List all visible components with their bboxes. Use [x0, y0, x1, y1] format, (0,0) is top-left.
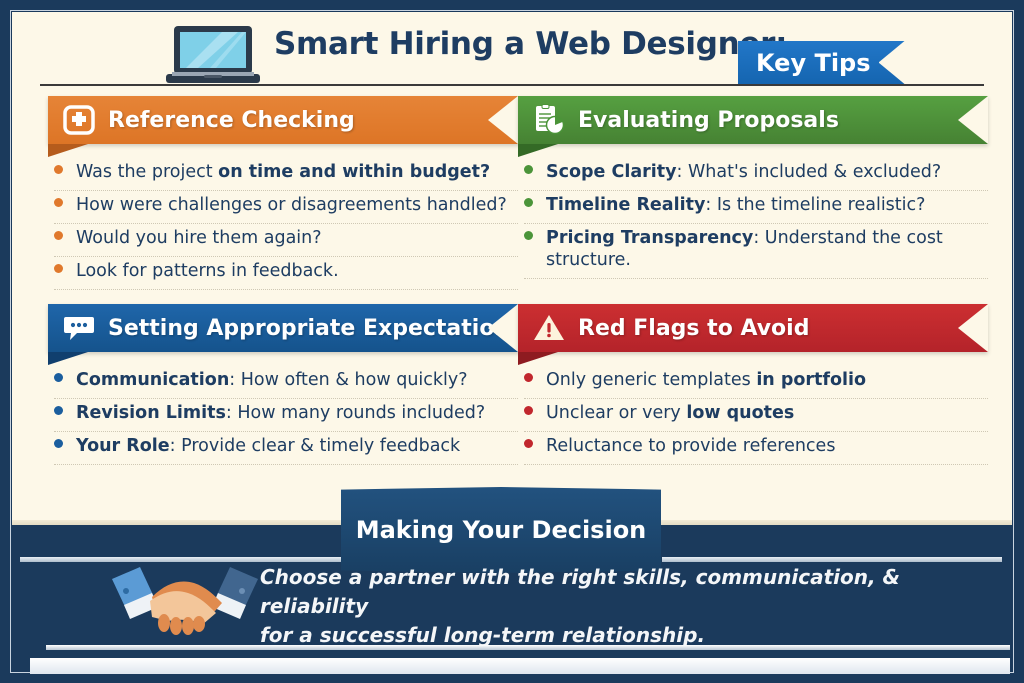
footer-message: Choose a partner with the right skills, …	[260, 563, 960, 650]
bullet-dot	[524, 231, 533, 240]
list-item: Only generic templates in portfolio	[524, 366, 988, 399]
list-item: Revision Limits: How many rounds include…	[54, 399, 518, 432]
section-card-evaluating-proposals: Evaluating Proposals Scope Clarity: What…	[518, 96, 988, 279]
list-item-text: Only generic templates in portfolio	[546, 370, 866, 392]
section-header: Evaluating Proposals	[518, 96, 988, 144]
infographic-poster: Smart Hiring a Web Designer: Key Tips Re…	[0, 0, 1024, 683]
handshake-icon	[110, 557, 260, 639]
section-card-red-flags-to-avoid: Red Flags to Avoid Only generic template…	[518, 304, 988, 465]
page-title: Smart Hiring a Web Designer:	[274, 26, 787, 62]
header: Smart Hiring a Web Designer: Key Tips	[12, 12, 1012, 90]
section-header: Reference Checking	[48, 96, 518, 144]
key-tips-badge: Key Tips	[738, 41, 905, 84]
bullet-dot	[524, 406, 533, 415]
list-item: Timeline Reality: Is the timeline realis…	[524, 191, 988, 224]
clipboard-chart-icon	[532, 103, 566, 137]
bottom-accent-bar-thin	[46, 645, 1010, 650]
list-item-text: Your Role: Provide clear & timely feedba…	[76, 436, 460, 458]
list-item-text: Would you hire them again?	[76, 228, 322, 250]
list-item: Was the project on time and within budge…	[54, 158, 518, 191]
section-header: Setting Appropriate Expectations	[48, 304, 518, 352]
section-title: Red Flags to Avoid	[578, 316, 809, 341]
bullet-list: Scope Clarity: What's included & exclude…	[518, 158, 988, 279]
section-title: Reference Checking	[108, 108, 355, 133]
list-item-text: Was the project on time and within budge…	[76, 162, 490, 184]
list-item: Look for patterns in feedback.	[54, 257, 518, 290]
header-divider	[40, 84, 984, 86]
list-item: Unclear or very low quotes	[524, 399, 988, 432]
list-item: Scope Clarity: What's included & exclude…	[524, 158, 988, 191]
list-item: Pricing Transparency: Understand the cos…	[524, 224, 988, 279]
list-item-text: Reluctance to provide references	[546, 436, 835, 458]
ribbon-fold	[518, 352, 558, 365]
section-header: Red Flags to Avoid	[518, 304, 988, 352]
list-item: How were challenges or disagreements han…	[54, 191, 518, 224]
speech-bubble-icon	[62, 311, 96, 345]
warning-triangle-icon	[532, 311, 566, 345]
bullet-dot	[54, 264, 63, 273]
bullet-list: Communication: How often & how quickly? …	[48, 366, 518, 465]
bullet-dot	[54, 373, 63, 382]
bullet-list: Only generic templates in portfolio Uncl…	[518, 366, 988, 465]
list-item-text: Look for patterns in feedback.	[76, 261, 339, 283]
list-item: Your Role: Provide clear & timely feedba…	[54, 432, 518, 465]
list-item: Would you hire them again?	[54, 224, 518, 257]
ribbon-fold	[48, 144, 88, 157]
bullet-dot	[524, 198, 533, 207]
bottom-accent-bar-thick	[30, 658, 1010, 674]
list-item-text: Timeline Reality: Is the timeline realis…	[546, 195, 925, 217]
making-your-decision-banner: Making Your Decision	[341, 487, 661, 573]
key-tips-label: Key Tips	[756, 49, 871, 77]
bullet-dot	[54, 165, 63, 174]
bullet-dot	[54, 406, 63, 415]
section-title: Evaluating Proposals	[578, 108, 839, 133]
section-title: Setting Appropriate Expectations	[108, 316, 523, 341]
list-item: Communication: How often & how quickly?	[54, 366, 518, 399]
first-aid-cross-icon	[62, 103, 96, 137]
bullet-dot	[524, 439, 533, 448]
bullet-dot	[524, 165, 533, 174]
sections-grid: Reference Checking Was the project on ti…	[12, 96, 1012, 496]
bullet-dot	[54, 198, 63, 207]
bullet-dot	[54, 231, 63, 240]
list-item: Reluctance to provide references	[524, 432, 988, 465]
list-item-text: Revision Limits: How many rounds include…	[76, 403, 485, 425]
bullet-dot	[524, 373, 533, 382]
laptop-icon	[164, 24, 262, 86]
bullet-list: Was the project on time and within budge…	[48, 158, 518, 290]
list-item-text: How were challenges or disagreements han…	[76, 195, 507, 217]
bullet-dot	[54, 439, 63, 448]
ribbon-fold	[48, 352, 88, 365]
section-card-reference-checking: Reference Checking Was the project on ti…	[48, 96, 518, 290]
ribbon-fold	[518, 144, 558, 157]
list-item-text: Scope Clarity: What's included & exclude…	[546, 162, 941, 184]
footer-rule-right	[662, 557, 1002, 562]
list-item-text: Pricing Transparency: Understand the cos…	[546, 228, 988, 272]
list-item-text: Unclear or very low quotes	[546, 403, 794, 425]
making-your-decision-label: Making Your Decision	[356, 516, 647, 544]
section-card-setting-appropriate-expectations: Setting Appropriate Expectations Communi…	[48, 304, 518, 465]
list-item-text: Communication: How often & how quickly?	[76, 370, 468, 392]
footer-message-line-1: Choose a partner with the right skills, …	[260, 563, 960, 621]
